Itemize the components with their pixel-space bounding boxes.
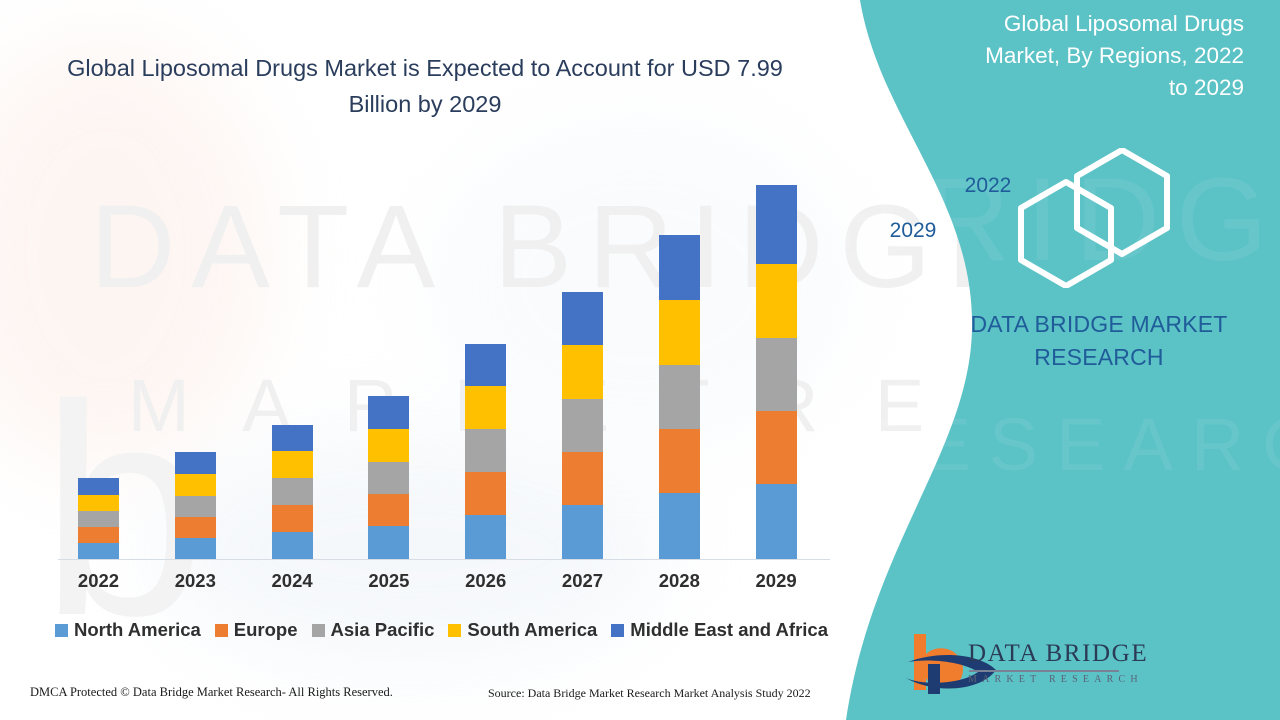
legend-label: Europe: [234, 619, 298, 641]
legend-swatch-icon: [215, 624, 228, 637]
legend-item-north-america[interactable]: North America: [55, 619, 201, 641]
legend-label: Asia Pacific: [331, 619, 435, 641]
bar-segment-europe: [175, 517, 216, 538]
brand-name: DATA BRIDGE MARKET RESEARCH: [954, 308, 1244, 373]
bar-segment-europe: [756, 411, 797, 484]
bar-2025: [368, 396, 409, 559]
bar-segment-south-america: [175, 474, 216, 496]
legend-swatch-icon: [312, 624, 325, 637]
x-label-2022: 2022: [64, 570, 134, 592]
x-label-2026: 2026: [451, 570, 521, 592]
legend-swatch-icon: [448, 624, 461, 637]
bar-segment-south-america: [368, 429, 409, 462]
bar-segment-south-america: [562, 345, 603, 399]
bar-2029: [756, 185, 797, 559]
bar-segment-europe: [368, 494, 409, 526]
chart-plot-area: [50, 150, 840, 560]
bar-segment-middle-east-and-africa: [175, 452, 216, 474]
bar-segment-asia-pacific: [465, 429, 506, 472]
bar-segment-north-america: [175, 538, 216, 559]
bar-segment-europe: [562, 452, 603, 505]
x-axis-tick-labels: 20222023202420252026202720282029: [50, 570, 840, 598]
bar-segment-asia-pacific: [659, 365, 700, 429]
bar-2028: [659, 235, 700, 559]
logo-divider: [969, 670, 1119, 672]
bar-segment-asia-pacific: [756, 338, 797, 411]
logo-subtitle: MARKET RESEARCH: [968, 674, 1148, 685]
bar-2026: [465, 344, 506, 559]
bar-segment-south-america: [465, 386, 506, 429]
right-teal-panel: BRIDGE RESEARCH Global Liposomal Drugs M…: [820, 0, 1280, 720]
bar-segment-asia-pacific: [78, 511, 119, 527]
bar-segment-middle-east-and-africa: [659, 235, 700, 300]
legend-label: Middle East and Africa: [630, 619, 828, 641]
hexagon-label-2022: 2022: [943, 174, 1033, 198]
bar-segment-europe: [78, 527, 119, 543]
page-title: Global Liposomal Drugs Market is Expecte…: [60, 50, 790, 123]
bar-segment-south-america: [756, 264, 797, 338]
bar-2027: [562, 292, 603, 559]
bar-2023: [175, 452, 216, 559]
bar-segment-asia-pacific: [272, 478, 313, 505]
x-label-2025: 2025: [354, 570, 424, 592]
x-label-2028: 2028: [644, 570, 714, 592]
x-label-2027: 2027: [548, 570, 618, 592]
legend-item-europe[interactable]: Europe: [215, 619, 298, 641]
x-label-2024: 2024: [257, 570, 327, 592]
logo-title: DATA BRIDGE: [968, 640, 1148, 668]
bar-segment-middle-east-and-africa: [368, 396, 409, 429]
bar-segment-north-america: [756, 484, 797, 559]
company-logo-text: DATA BRIDGE MARKET RESEARCH: [968, 640, 1148, 685]
hexagon-2022: [1077, 150, 1167, 254]
bar-2024: [272, 425, 313, 559]
footer-source: Source: Data Bridge Market Research Mark…: [488, 686, 811, 701]
hexagon-group: [1004, 148, 1234, 288]
stacked-bar-chart: [50, 150, 840, 562]
bar-segment-north-america: [368, 526, 409, 559]
bar-segment-middle-east-and-africa: [78, 478, 119, 495]
x-label-2023: 2023: [160, 570, 230, 592]
footer-copyright: DMCA Protected © Data Bridge Market Rese…: [30, 685, 393, 700]
bar-segment-europe: [465, 472, 506, 515]
bar-segment-europe: [272, 505, 313, 532]
bar-2022: [78, 478, 119, 559]
bar-segment-south-america: [78, 495, 119, 511]
legend-swatch-icon: [611, 624, 624, 637]
bar-segment-north-america: [562, 505, 603, 559]
bar-segment-asia-pacific: [562, 399, 603, 452]
legend-label: South America: [467, 619, 597, 641]
x-label-2029: 2029: [741, 570, 811, 592]
legend-item-asia-pacific[interactable]: Asia Pacific: [312, 619, 435, 641]
bar-segment-middle-east-and-africa: [756, 185, 797, 264]
bar-segment-north-america: [465, 515, 506, 559]
panel-title: Global Liposomal Drugs Market, By Region…: [964, 8, 1244, 104]
hexagon-label-2029: 2029: [868, 219, 958, 243]
bar-segment-south-america: [272, 451, 313, 478]
bar-segment-north-america: [272, 532, 313, 559]
bar-segment-north-america: [659, 493, 700, 559]
legend-item-south-america[interactable]: South America: [448, 619, 597, 641]
bar-segment-asia-pacific: [368, 462, 409, 494]
bar-segment-south-america: [659, 300, 700, 365]
bar-segment-middle-east-and-africa: [272, 425, 313, 451]
chart-legend: North AmericaEuropeAsia PacificSouth Ame…: [55, 615, 845, 645]
legend-item-middle-east-and-africa[interactable]: Middle East and Africa: [611, 619, 828, 641]
infographic-root: DATA BRIDGE M A R K E T R E S E A R C H …: [0, 0, 1280, 720]
legend-label: North America: [74, 619, 201, 641]
legend-swatch-icon: [55, 624, 68, 637]
bar-segment-europe: [659, 429, 700, 493]
bar-segment-middle-east-and-africa: [465, 344, 506, 386]
bar-segment-north-america: [78, 543, 119, 559]
svg-text:RESEARCH: RESEARCH: [850, 403, 1280, 486]
bar-segment-middle-east-and-africa: [562, 292, 603, 345]
x-axis-line: [58, 559, 830, 560]
bar-segment-asia-pacific: [175, 496, 216, 517]
hexagon-2029: [1021, 182, 1111, 286]
